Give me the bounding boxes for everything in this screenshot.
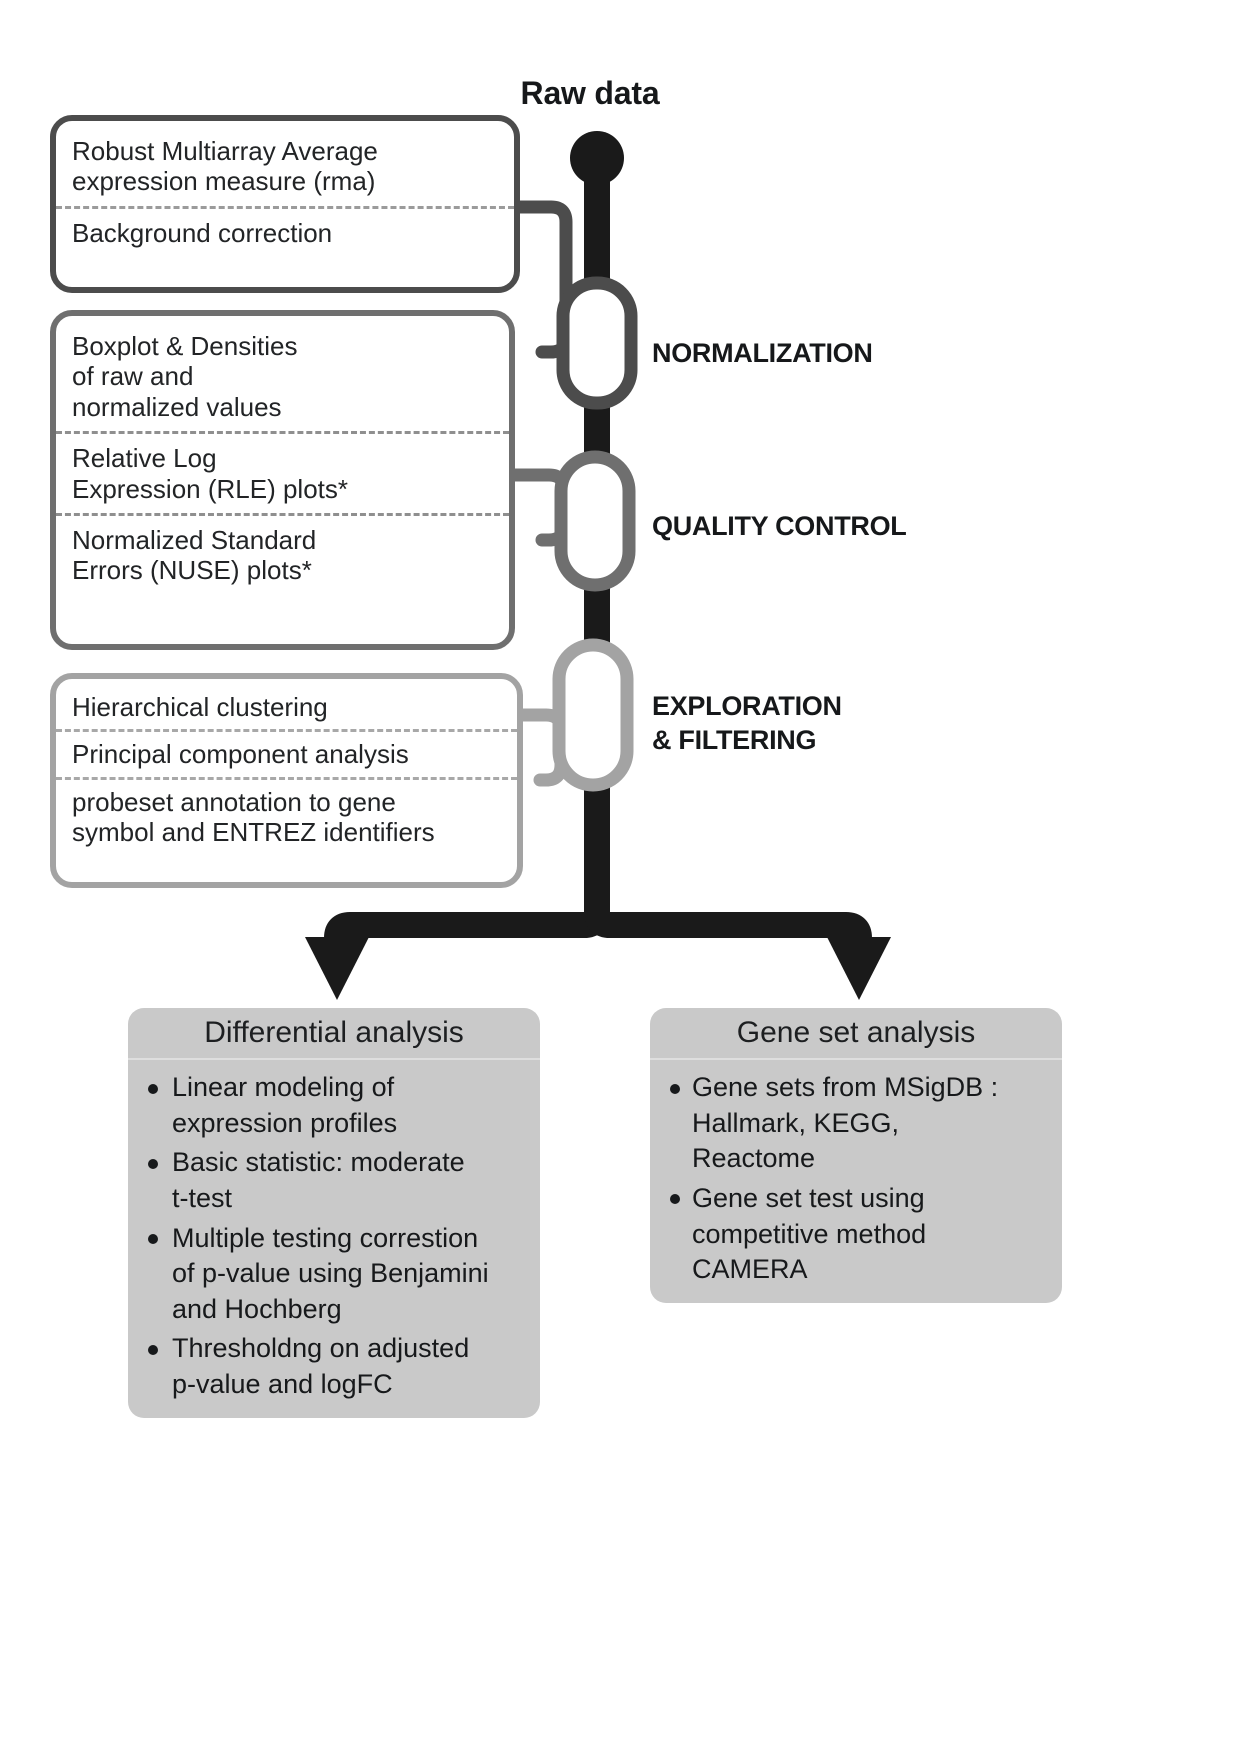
- stage-capsule-normalization: [563, 283, 631, 403]
- connector-quality-control: [510, 475, 564, 540]
- method-row: Normalized Standard Errors (NUSE) plots*: [56, 513, 509, 595]
- bullet-icon: [148, 1345, 158, 1355]
- branch-fork: [337, 898, 859, 952]
- method-row: Background correction: [56, 206, 514, 257]
- panel-title: Differential analysis: [128, 1008, 540, 1060]
- spine-start-dot: [570, 131, 624, 185]
- panel-item-list: Linear modeling of expression profiles B…: [128, 1060, 540, 1418]
- list-item-label: Basic statistic: moderate t-test: [172, 1147, 465, 1213]
- list-item: Linear modeling of expression profiles: [142, 1070, 526, 1141]
- stage-label-quality-control: QUALITY CONTROL: [652, 510, 907, 544]
- main-spine: [570, 131, 624, 900]
- method-row: Hierarchical clustering: [56, 685, 517, 729]
- list-item: Gene sets from MSigDB : Hallmark, KEGG, …: [664, 1070, 1048, 1177]
- arrow-head-left: [305, 937, 369, 1000]
- bullet-icon: [148, 1234, 158, 1244]
- stage-label-normalization: NORMALIZATION: [652, 337, 873, 371]
- method-row: Relative Log Expression (RLE) plots*: [56, 431, 509, 513]
- bullet-icon: [670, 1084, 680, 1094]
- workflow-diagram: Raw data NORMALIZATION QUALITY CONTROL E…: [0, 0, 1240, 1753]
- output-panel-differential-analysis: Differential analysis Linear modeling of…: [128, 1008, 540, 1418]
- panel-title: Gene set analysis: [650, 1008, 1062, 1060]
- method-row: Principal component analysis: [56, 729, 517, 776]
- connector-normalization: [512, 207, 566, 352]
- list-item: Basic statistic: moderate t-test: [142, 1145, 526, 1216]
- diagram-title: Raw data: [430, 75, 750, 112]
- method-box-normalization: Robust Multiarray Average expression mea…: [50, 115, 520, 293]
- list-item: Multiple testing correstion of p-value u…: [142, 1221, 526, 1328]
- method-box-exploration-filtering: Hierarchical clustering Principal compon…: [50, 673, 523, 888]
- list-item-label: Gene set test using competitive method C…: [692, 1183, 926, 1284]
- stage-capsule-exploration: [559, 645, 627, 785]
- bullet-icon: [148, 1084, 158, 1094]
- method-row: Boxplot & Densities of raw and normalize…: [56, 322, 509, 431]
- method-row: Robust Multiarray Average expression mea…: [56, 127, 514, 206]
- arrow-head-right: [827, 937, 891, 1000]
- bullet-icon: [148, 1159, 158, 1169]
- method-box-quality-control: Boxplot & Densities of raw and normalize…: [50, 310, 515, 650]
- method-row: probeset annotation to gene symbol and E…: [56, 777, 517, 855]
- list-item-label: Multiple testing correstion of p-value u…: [172, 1223, 489, 1324]
- list-item-label: Linear modeling of expression profiles: [172, 1072, 397, 1138]
- stage-label-exploration-filtering: EXPLORATION & FILTERING: [652, 690, 842, 758]
- stage-capsule-quality-control: [561, 457, 629, 585]
- list-item: Gene set test using competitive method C…: [664, 1181, 1048, 1288]
- output-panel-gene-set-analysis: Gene set analysis Gene sets from MSigDB …: [650, 1008, 1062, 1303]
- panel-item-list: Gene sets from MSigDB : Hallmark, KEGG, …: [650, 1060, 1062, 1303]
- list-item-label: Thresholdng on adjusted p-value and logF…: [172, 1333, 469, 1399]
- list-item-label: Gene sets from MSigDB : Hallmark, KEGG, …: [692, 1072, 998, 1173]
- list-item: Thresholdng on adjusted p-value and logF…: [142, 1331, 526, 1402]
- bullet-icon: [670, 1194, 680, 1204]
